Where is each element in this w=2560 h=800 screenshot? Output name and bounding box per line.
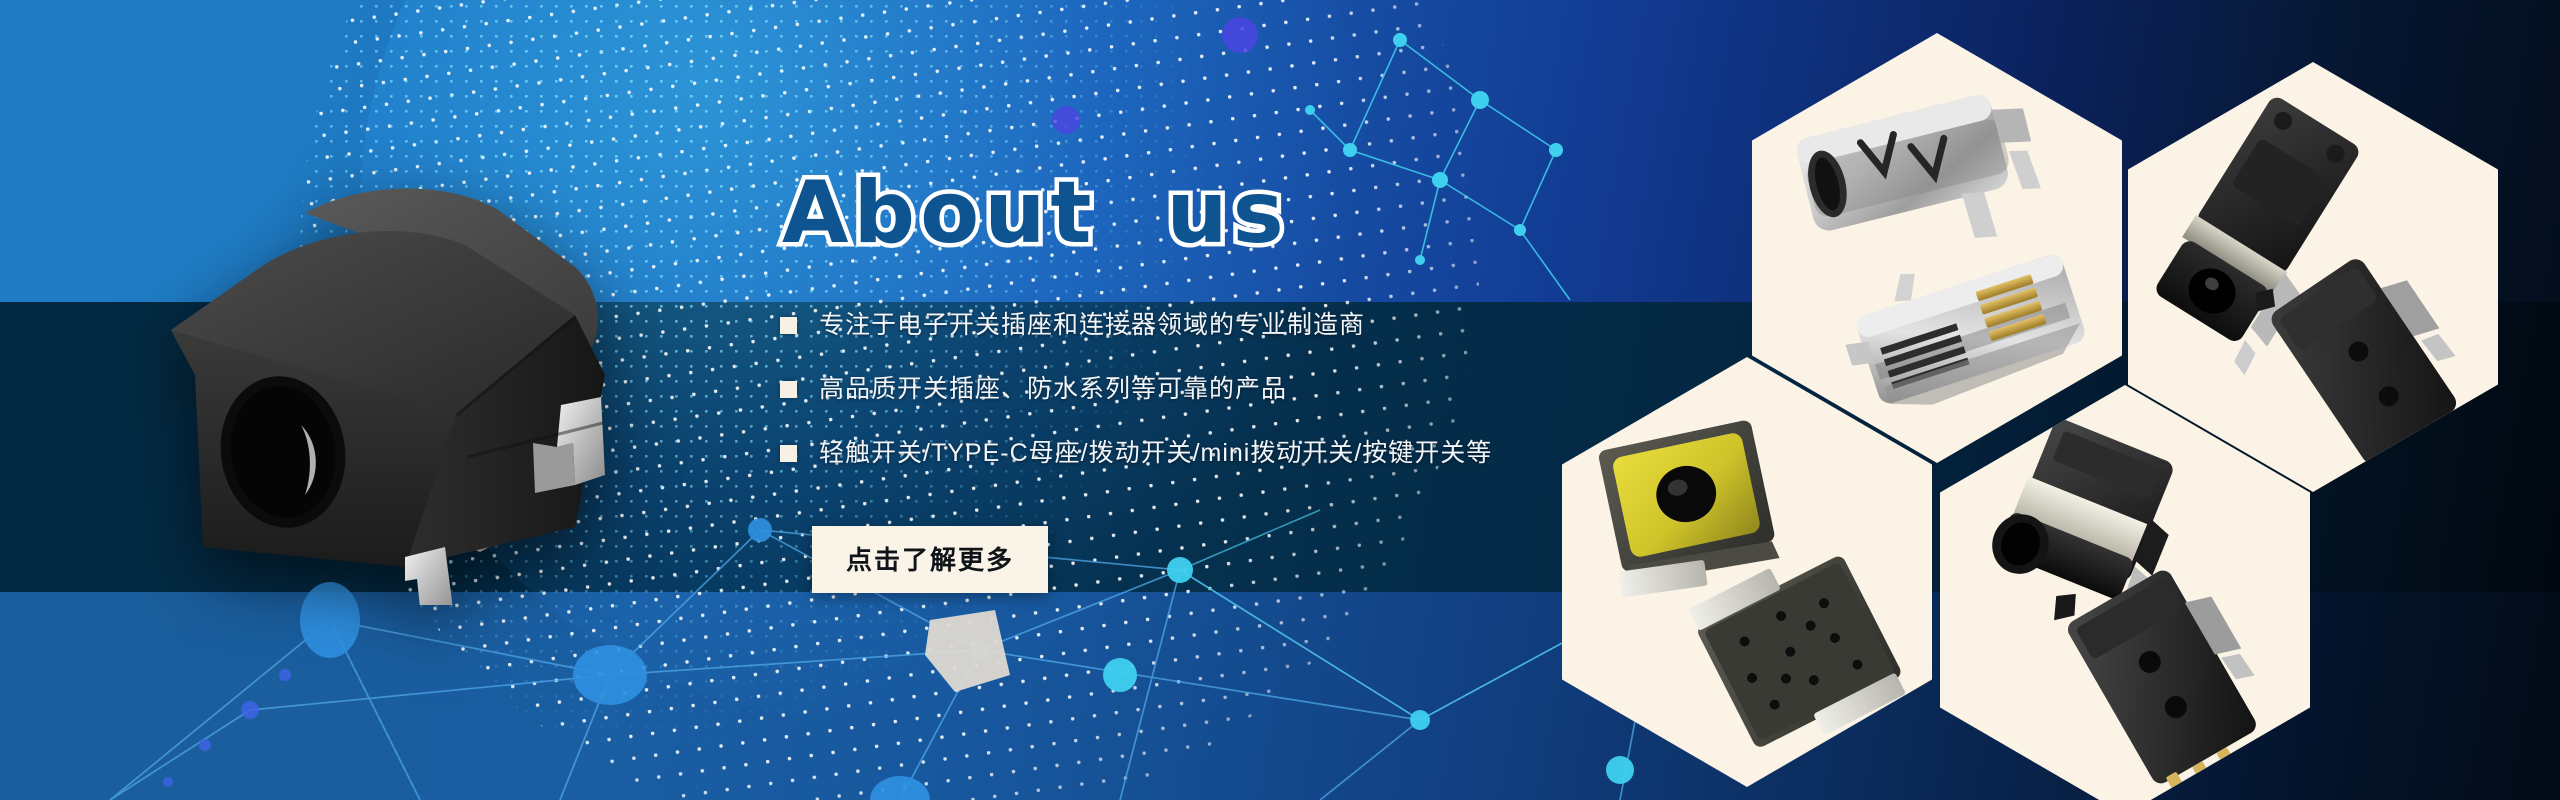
about-us-banner: About us 专注于电子开关插座和连接器领域的专业制造商 高品质开关插座、防…: [0, 0, 2560, 800]
square-bullet-icon: [780, 445, 797, 462]
about-copy-block: About us 专注于电子开关插座和连接器领域的专业制造商 高品质开关插座、防…: [770, 170, 1630, 593]
square-bullet-icon: [780, 317, 797, 334]
feature-list: 专注于电子开关插座和连接器领域的专业制造商 高品质开关插座、防水系列等可靠的产品…: [770, 310, 1630, 468]
hexagon-product-gallery: [1540, 0, 2560, 800]
dc-power-jack-photo: [105, 175, 665, 605]
list-item-label: 轻触开关/TYPE-C母座/拨动开关/mini拨动开关/按键开关等: [819, 438, 1492, 468]
learn-more-button[interactable]: 点击了解更多: [812, 526, 1048, 593]
list-item: 轻触开关/TYPE-C母座/拨动开关/mini拨动开关/按键开关等: [780, 438, 1630, 468]
page-title: About us: [782, 170, 1630, 256]
square-bullet-icon: [780, 381, 797, 398]
list-item-label: 高品质开关插座、防水系列等可靠的产品: [819, 374, 1287, 404]
list-item-label: 专注于电子开关插座和连接器领域的专业制造商: [819, 310, 1365, 340]
list-item: 专注于电子开关插座和连接器领域的专业制造商: [780, 310, 1630, 340]
list-item: 高品质开关插座、防水系列等可靠的产品: [780, 374, 1630, 404]
